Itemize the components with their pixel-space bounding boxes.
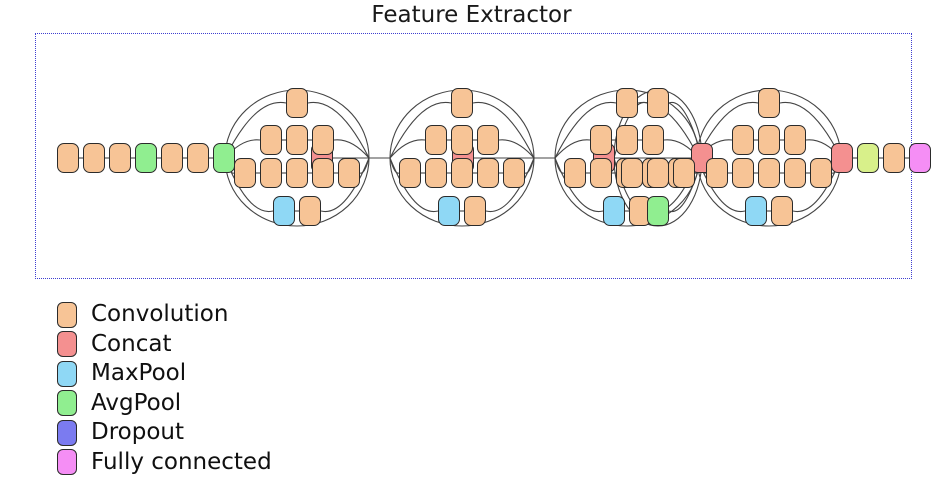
reduction-block-4-convolution	[647, 158, 669, 188]
legend-label: Fully connected	[91, 451, 272, 474]
inception-block-5-convolution	[784, 158, 806, 188]
inception-block-3-convolution	[642, 125, 664, 155]
inception-block-1-convolution	[286, 88, 308, 118]
stem-avgpool	[135, 143, 157, 173]
legend: ConvolutionConcatMaxPoolAvgPoolDropoutFu…	[57, 300, 272, 477]
inception-block-1-convolution	[260, 125, 282, 155]
inception-block-3-convolution	[616, 88, 638, 118]
legend-swatch-dropout	[57, 420, 77, 446]
inception-block-1-convolution	[312, 125, 334, 155]
legend-label: MaxPool	[91, 362, 186, 385]
legend-label: Concat	[91, 333, 171, 356]
legend-swatch-avgpool	[57, 390, 77, 416]
inception-block-1-convolution	[312, 158, 334, 188]
stem-convolution	[57, 143, 79, 173]
legend-label: Convolution	[91, 303, 228, 326]
inception-block-5-maxpool	[745, 196, 767, 226]
inception-block-1-convolution	[234, 158, 256, 188]
legend-swatch-concat	[57, 331, 77, 357]
inception-block-1-maxpool	[273, 196, 295, 226]
inception-block-1-convolution	[338, 158, 360, 188]
stem-convolution	[109, 143, 131, 173]
stem-convolution	[83, 143, 105, 173]
legend-swatch-convolution	[57, 302, 77, 328]
legend-swatch-maxpool	[57, 361, 77, 387]
legend-item-fully-connected: Fully connected	[57, 448, 272, 478]
inception-block-5-convolution	[706, 158, 728, 188]
inception-block-5-convolution	[732, 125, 754, 155]
legend-swatch-fully-connected	[57, 449, 77, 475]
legend-label: AvgPool	[91, 392, 181, 415]
inception-block-5-convolution	[784, 125, 806, 155]
inception-block-2-convolution	[451, 88, 473, 118]
inception-block-1-convolution	[260, 158, 282, 188]
inception-block-3-maxpool	[603, 196, 625, 226]
inception-block-1-convolution	[299, 196, 321, 226]
inception-block-2-convolution	[451, 158, 473, 188]
legend-item-convolution: Convolution	[57, 300, 272, 330]
reduction-block-4-avgpool	[647, 196, 669, 226]
inception-block-3-convolution	[590, 125, 612, 155]
inception-block-1-convolution	[286, 158, 308, 188]
inception-block-5-convolution	[758, 125, 780, 155]
inception-block-5-convolution	[810, 158, 832, 188]
tail-yellow-green	[857, 143, 879, 173]
concat-concat	[831, 143, 853, 173]
inception-block-2-convolution	[477, 125, 499, 155]
stem-convolution	[161, 143, 183, 173]
reduction-block-4-convolution	[673, 158, 695, 188]
tail-convolution	[883, 143, 905, 173]
inception-block-2-convolution	[477, 158, 499, 188]
stem-convolution	[187, 143, 209, 173]
inception-block-5-convolution	[758, 158, 780, 188]
legend-label: Dropout	[91, 421, 184, 444]
inception-block-5-convolution	[732, 158, 754, 188]
inception-block-1-convolution	[286, 125, 308, 155]
inception-block-2-convolution	[464, 196, 486, 226]
inception-block-2-convolution	[503, 158, 525, 188]
legend-item-dropout: Dropout	[57, 418, 272, 448]
page-title: Feature Extractor	[0, 2, 943, 28]
inception-block-2-convolution	[451, 125, 473, 155]
tail-fully-connected	[909, 143, 931, 173]
inception-block-5-convolution	[771, 196, 793, 226]
legend-item-concat: Concat	[57, 330, 272, 360]
inception-block-3-convolution	[616, 125, 638, 155]
inception-block-2-convolution	[425, 158, 447, 188]
inception-block-2-maxpool	[438, 196, 460, 226]
inception-block-3-convolution	[564, 158, 586, 188]
inception-block-2-convolution	[399, 158, 421, 188]
legend-item-maxpool: MaxPool	[57, 359, 272, 389]
inception-block-3-convolution	[590, 158, 612, 188]
stem-avgpool	[213, 143, 235, 173]
inception-block-5-convolution	[758, 88, 780, 118]
legend-item-avgpool: AvgPool	[57, 389, 272, 419]
reduction-block-4-convolution	[647, 88, 669, 118]
inception-block-2-convolution	[425, 125, 447, 155]
reduction-block-4-convolution	[621, 158, 643, 188]
